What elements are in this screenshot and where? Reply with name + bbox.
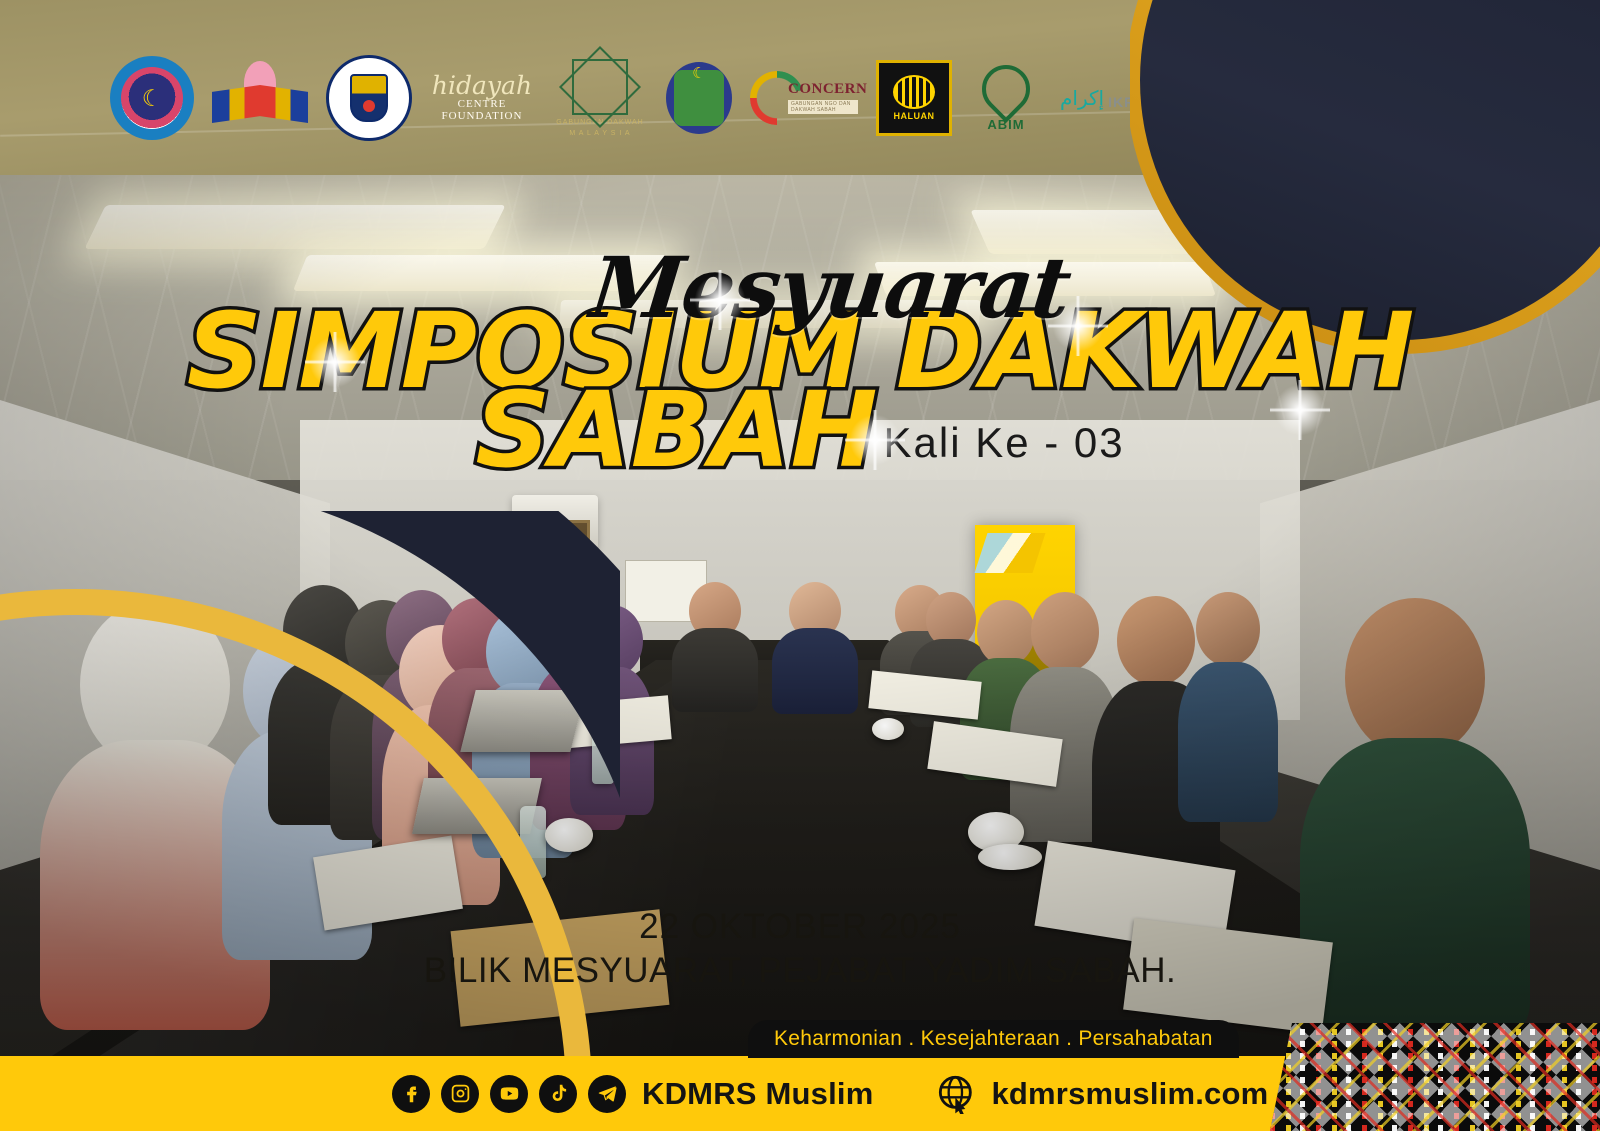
script-heading: Mesyuarat [56,250,1600,326]
hidayah-centre-logo: hidayah CENTRE FOUNDATION [430,55,534,141]
social-handle: KDMRS Muslim [642,1076,873,1112]
instagram-icon[interactable] [441,1075,479,1113]
open-book-icon [212,85,308,123]
ikram-arabic: إكرام [1060,86,1104,110]
youtube-icon[interactable] [490,1075,528,1113]
abim-logo: ABIM [970,55,1042,141]
concern-logo: CONCERN GABUNGAN NGO DAN DAKWAH SABAH [750,55,858,141]
haluan-wordmark: HALUAN [894,111,935,121]
ums-logo [326,55,412,141]
event-details: 22 OKTOBER 2025 BILIK MESYUARAT, PEJABAT… [0,905,1600,993]
tiktok-icon[interactable] [539,1075,577,1113]
hidayah-line2: FOUNDATION [430,110,534,122]
concern-wordmark: CONCERN [788,81,867,98]
website-url: kdmrsmuslim.com [991,1076,1268,1112]
pattern-layer-accent [1270,1023,1600,1131]
shield-icon [350,74,388,122]
globe-icon [937,1074,977,1114]
gdm-line2: M A L A Y S I A [552,130,648,138]
eight-point-star-icon [559,46,641,128]
ethnic-pattern-strip [1270,1023,1600,1131]
event-poster: ☾ hidayah CENTRE FOUNDATION GABUNGAN DAK… [0,0,1600,1131]
crescent-star-icon: ☾ [142,87,163,110]
ceiling-light [84,205,505,249]
corner-decoration-bottom-left [0,511,620,1131]
kdmrs-logo: ☾ [110,55,194,141]
jheains-logo: ☾ [666,55,732,141]
hidayah-script: hidayah [430,74,534,98]
title-block: Mesyuarat SIMPOSIUM DAKWAH SABAH Kali Ke… [0,250,1600,479]
coffee-cup [872,718,904,740]
tagline-pill: Keharmonian . Kesejahteraan . Persahabat… [748,1020,1239,1058]
event-date: 22 OKTOBER 2025 [0,905,1600,949]
globe-icon [893,75,935,109]
event-venue: BILIK MESYUARAT, PEJABAT YADIM SABAH. [0,949,1600,993]
masjid-ums-logo [212,55,308,141]
coffee-cup [978,844,1042,870]
crescent-icon: ☾ [692,64,705,82]
facebook-icon[interactable] [392,1075,430,1113]
leaf-icon [972,55,1040,123]
edition-label: Kali Ke - 03 [884,419,1125,479]
concern-tagline: GABUNGAN NGO DAN DAKWAH SABAH [788,100,858,114]
gdm-logo: GABUNGAN DAKWAH M A L A Y S I A [552,55,648,141]
website-link[interactable]: kdmrsmuslim.com [937,1074,1268,1114]
haluan-logo: HALUAN [876,55,952,141]
telegram-icon[interactable] [588,1075,626,1113]
social-links [392,1075,626,1113]
main-title-line2: SABAH [475,383,877,479]
concern-arcs-icon [750,71,804,125]
